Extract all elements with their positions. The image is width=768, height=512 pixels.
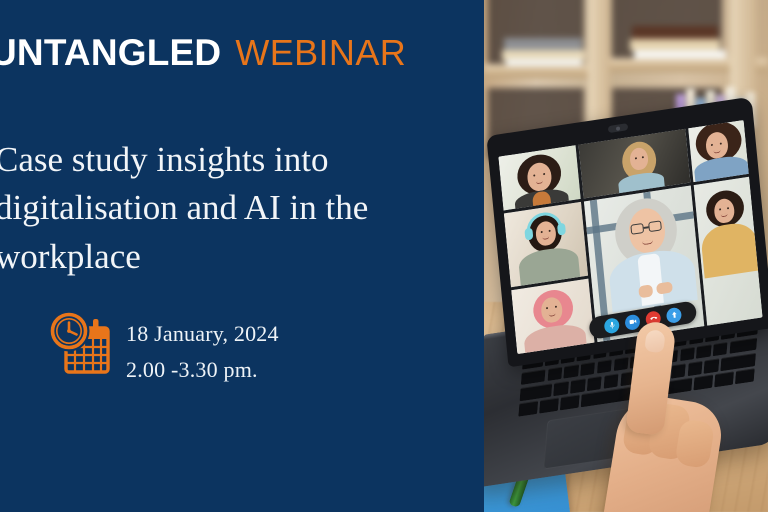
knuckle (674, 418, 715, 469)
key[interactable] (570, 378, 585, 393)
hero-photo (484, 0, 768, 512)
laptop-lid (486, 97, 768, 368)
webcam-icon (608, 123, 628, 133)
hand-pointing (586, 332, 766, 512)
video-tile-participant[interactable] (694, 177, 763, 332)
brand-name: UNTANGLED (0, 34, 221, 71)
key[interactable] (521, 369, 546, 386)
content-panel: UNTANGLED WEBINAR Case study insights in… (0, 0, 484, 512)
video-tile-participant[interactable] (504, 202, 588, 287)
share-button[interactable] (666, 306, 683, 323)
key[interactable] (547, 366, 562, 381)
event-date: 18 January, 2024 (126, 316, 279, 352)
event-datetime-text: 18 January, 2024 2.00 -3.30 pm. (126, 310, 279, 387)
video-tile-participant[interactable] (511, 279, 595, 354)
brand-lockup: UNTANGLED WEBINAR (0, 34, 406, 71)
key[interactable] (518, 401, 537, 417)
video-tile-participant[interactable] (688, 120, 749, 182)
key[interactable] (560, 395, 579, 411)
page-title: Case study insights into digitalisation … (0, 136, 425, 281)
key[interactable] (539, 398, 558, 414)
key[interactable] (553, 381, 568, 396)
event-time: 2.00 -3.30 pm. (126, 352, 279, 388)
camera-button[interactable] (624, 313, 641, 330)
fingernail (644, 329, 666, 353)
event-datetime: 18 January, 2024 2.00 -3.30 pm. (48, 310, 279, 387)
clock-calendar-icon (48, 310, 110, 378)
key[interactable] (564, 364, 579, 379)
brand-subtitle: WEBINAR (235, 35, 406, 71)
video-tile-participant[interactable] (498, 145, 580, 210)
laptop-screen (498, 120, 762, 354)
webinar-banner: UNTANGLED WEBINAR Case study insights in… (0, 0, 768, 512)
laptop (490, 118, 768, 418)
